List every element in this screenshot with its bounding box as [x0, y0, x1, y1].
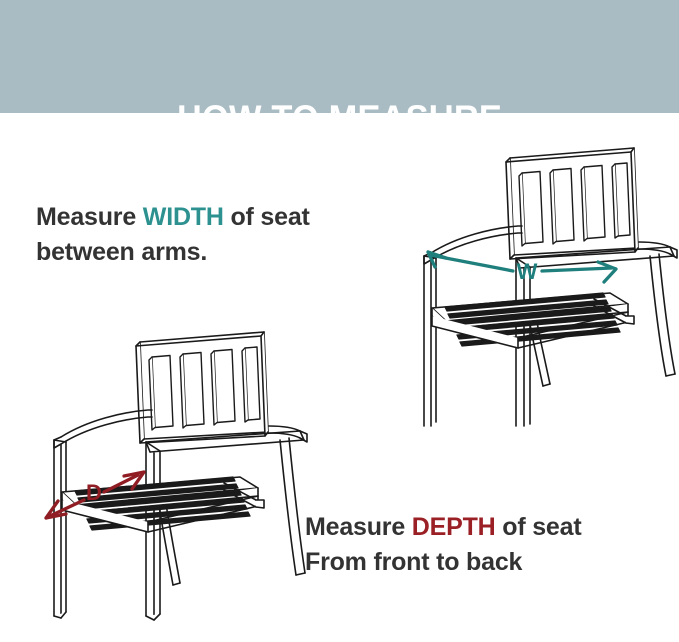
- infographic-page: HOW TO MEASURE YOUR FURNITURE Measure WI…: [0, 0, 679, 642]
- chair-line-drawing-depth: D: [28, 320, 309, 620]
- depth-instruction-text: Measure DEPTH of seat From front to back: [305, 510, 675, 580]
- chair-diagram-width: W: [398, 136, 679, 426]
- chair-back-right-leg-depth: [280, 438, 305, 575]
- chair-left-front-post-width: [424, 256, 436, 426]
- depth-instruction-line-2: From front to back: [305, 545, 675, 580]
- header-band: HOW TO MEASURE YOUR FURNITURE: [0, 0, 679, 113]
- depth-keyword: DEPTH: [412, 513, 496, 541]
- page-title-line-1: HOW TO MEASURE: [24, 98, 655, 140]
- width-keyword: WIDTH: [143, 203, 224, 231]
- width-instruction-line-1: Measure WIDTH of seat: [36, 200, 436, 235]
- depth-line1-suffix: of seat: [496, 513, 582, 541]
- width-line1-suffix: of seat: [224, 203, 310, 231]
- chair-diagram-depth: D: [28, 320, 309, 620]
- chair-back-right-leg-width: [650, 254, 675, 376]
- width-instruction-line-2: between arms.: [36, 235, 436, 270]
- chair-line-drawing-width: W: [398, 136, 679, 426]
- width-line1-prefix: Measure: [36, 203, 143, 231]
- depth-arrow-label: D: [86, 480, 102, 505]
- depth-line1-prefix: Measure: [305, 513, 412, 541]
- width-arrow-label: W: [517, 259, 538, 284]
- chair-left-front-post-depth: [54, 440, 66, 618]
- depth-instruction-line-1: Measure DEPTH of seat: [305, 510, 675, 545]
- width-instruction-text: Measure WIDTH of seat between arms.: [36, 200, 436, 270]
